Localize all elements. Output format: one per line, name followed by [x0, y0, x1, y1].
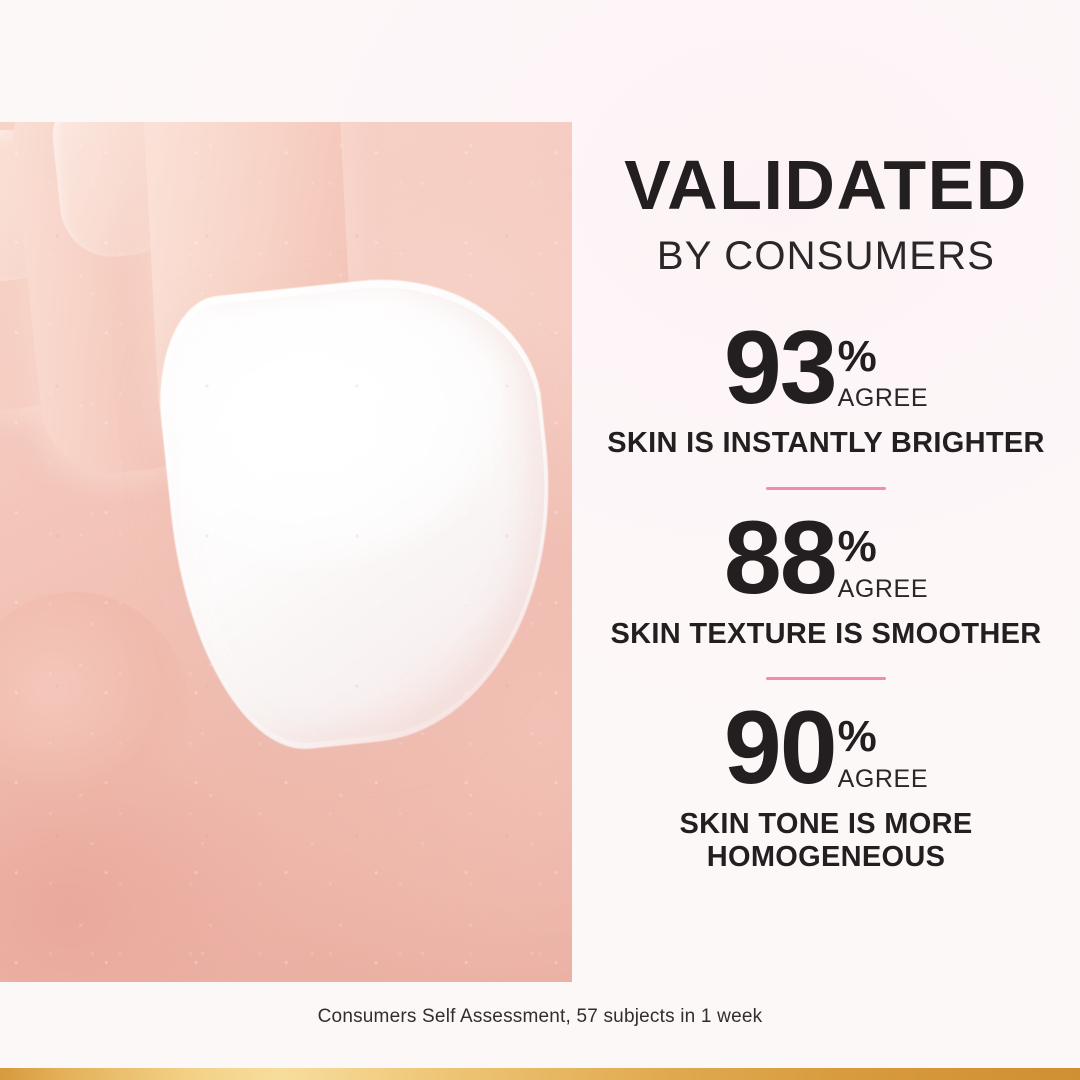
headline-primary: VALIDATED [624, 150, 1028, 220]
claim-figure: 90 % AGREE [724, 704, 928, 793]
skin-texture-grain [0, 122, 572, 982]
claim-item: 93 % AGREE SKIN IS INSTANTLY BRIGHTER [572, 324, 1080, 461]
page-title: VALIDATED BY CONSUMERS [624, 150, 1028, 276]
agree-label: AGREE [838, 767, 929, 792]
claim-divider [766, 677, 886, 680]
headline-secondary: BY CONSUMERS [624, 236, 1028, 276]
claim-item: 90 % AGREE SKIN TONE IS MORE HOMOGENEOUS [572, 704, 1080, 875]
agree-label: AGREE [838, 577, 929, 602]
claims-panel: VALIDATED BY CONSUMERS 93 % AGREE SKIN I… [572, 0, 1080, 1000]
claims-list: 93 % AGREE SKIN IS INSTANTLY BRIGHTER 88… [572, 324, 1080, 875]
claim-percentage-value: 90 [724, 704, 836, 793]
study-footnote: Consumers Self Assessment, 57 subjects i… [0, 1006, 1080, 1028]
product-texture-photo [0, 122, 572, 982]
claim-unit-group: % AGREE [838, 720, 929, 793]
claim-divider [766, 487, 886, 490]
percent-sign: % [838, 340, 877, 374]
claim-percentage-value: 93 [724, 324, 836, 413]
percent-sign: % [838, 720, 877, 754]
claim-percentage-value: 88 [724, 514, 836, 603]
claim-text: SKIN TEXTURE IS SMOOTHER [611, 618, 1042, 652]
claim-unit-group: % AGREE [838, 340, 929, 413]
claim-figure: 88 % AGREE [724, 514, 928, 603]
claim-text: SKIN TONE IS MORE HOMOGENEOUS [606, 808, 1046, 875]
validated-by-consumers-poster: VALIDATED BY CONSUMERS 93 % AGREE SKIN I… [0, 0, 1080, 1080]
agree-label: AGREE [838, 386, 929, 411]
gold-accent-bar [0, 1068, 1080, 1080]
claim-unit-group: % AGREE [838, 530, 929, 603]
percent-sign: % [838, 530, 877, 564]
claim-text: SKIN IS INSTANTLY BRIGHTER [607, 427, 1044, 461]
claim-item: 88 % AGREE SKIN TEXTURE IS SMOOTHER [572, 514, 1080, 651]
claim-figure: 93 % AGREE [724, 324, 928, 413]
